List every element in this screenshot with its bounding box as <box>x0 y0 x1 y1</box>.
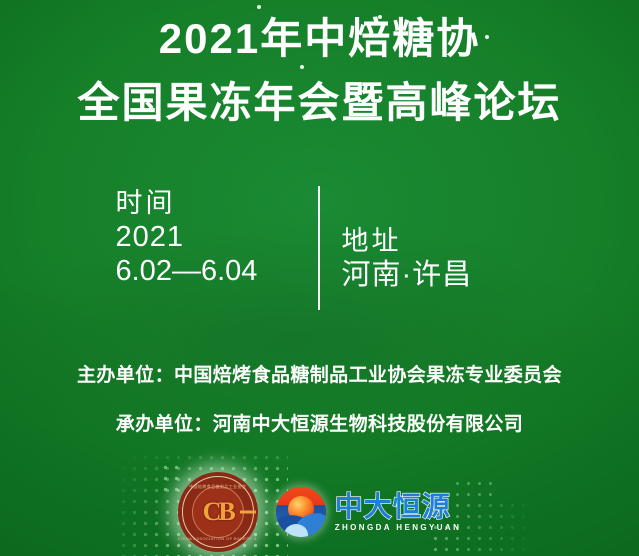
event-info-row: 时间 2021 6.02—6.04 地址 河南·许昌 <box>0 182 639 310</box>
sparkle-dot <box>257 5 261 9</box>
cbia-dash-mark <box>240 511 256 514</box>
cbia-association-logo: 中国焙烤食品糖制品工业协会 CB CHINA ASSOCIATION OF BA… <box>178 472 258 552</box>
host-organization: 主办单位：中国焙烤食品糖制品工业协会果冻专业委员会 <box>0 360 639 387</box>
info-divider <box>318 186 320 310</box>
cbia-arc-text-top: 中国焙烤食品糖制品工业协会 <box>178 484 258 490</box>
time-label: 时间 <box>116 188 298 220</box>
zhongda-hengyuan-chinese: 中大恒源 <box>335 493 462 521</box>
event-time-block: 时间 2021 6.02—6.04 <box>116 182 318 288</box>
time-year: 2021 <box>116 220 298 254</box>
event-poster: 2021年中焙糖协 全国果冻年会暨高峰论坛 时间 2021 6.02—6.04 … <box>0 0 639 556</box>
poster-title: 2021年中焙糖协 全国果冻年会暨高峰论坛 <box>0 18 639 124</box>
time-dates: 6.02—6.04 <box>116 254 298 288</box>
title-line-1: 2021年中焙糖协 <box>0 18 639 60</box>
event-address-block: 地址 河南·许昌 <box>320 182 524 292</box>
wave-shape-3 <box>284 524 308 537</box>
title-line-2: 全国果冻年会暨高峰论坛 <box>0 82 639 124</box>
undertaker-organization: 承办单位：河南中大恒源生物科技股份有限公司 <box>0 409 639 436</box>
address-value: 河南·许昌 <box>342 258 524 292</box>
organizer-block: 主办单位：中国焙烤食品糖制品工业协会果冻专业委员会 承办单位：河南中大恒源生物科… <box>0 360 639 436</box>
cbia-monogram: CB <box>203 497 233 527</box>
cbia-arc-text-bottom: CHINA ASSOCIATION OF BAKERY & CONFECTION… <box>178 536 258 541</box>
zhongda-hengyuan-english: ZHONGDA HENGYUAN <box>335 524 462 532</box>
zhongda-hengyuan-logo: 中大恒源 ZHONGDA HENGYUAN <box>276 487 462 537</box>
logo-row: 中国焙烤食品糖制品工业协会 CB CHINA ASSOCIATION OF BA… <box>0 468 639 556</box>
zhongda-hengyuan-emblem-icon <box>276 487 326 537</box>
address-label: 地址 <box>342 226 524 258</box>
zhongda-hengyuan-wordmark: 中大恒源 ZHONGDA HENGYUAN <box>335 493 462 532</box>
